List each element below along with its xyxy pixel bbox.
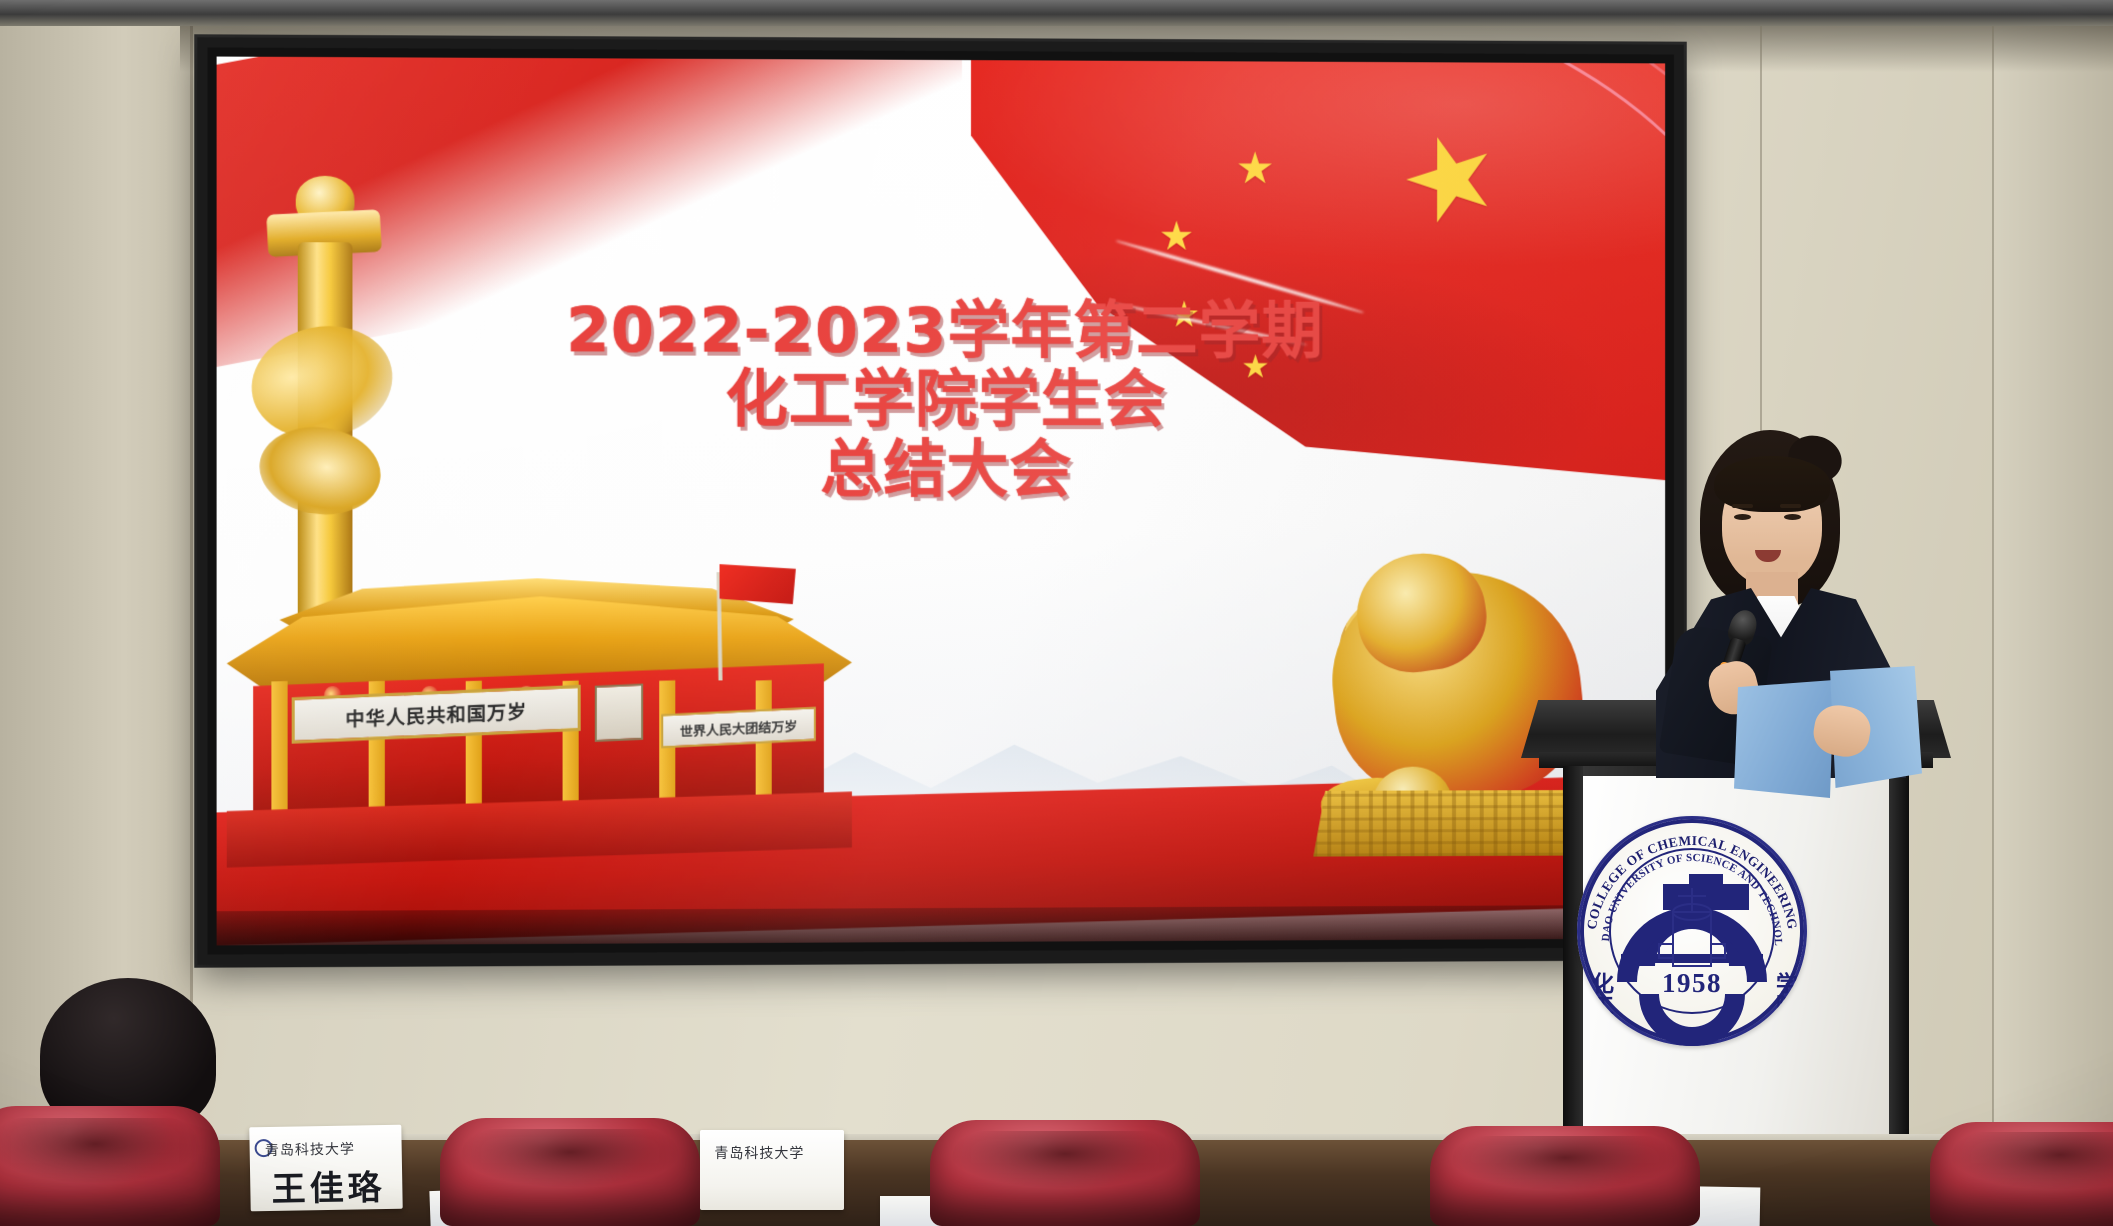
slide-red-base-shadow <box>217 905 1666 946</box>
gate-column <box>271 681 287 811</box>
seal-chinese-left: 化工 <box>1584 972 1616 1016</box>
name-card-person-name: 王佳珞 <box>271 1160 386 1211</box>
wall-panel-right <box>1993 0 2113 1226</box>
speaker-eyebrow <box>1732 504 1753 508</box>
front-row-chair <box>440 1118 700 1226</box>
speaker-eyebrow <box>1780 504 1801 508</box>
seal-founding-year: 1958 <box>1662 968 1722 998</box>
projection-screen: ★ ★ ★ ★ ★ <box>197 37 1684 964</box>
seal-chinese-right: 学院 <box>1768 972 1800 1016</box>
speaker-eye <box>1784 514 1801 520</box>
student-speaker <box>1638 430 1938 760</box>
front-row-chair <box>930 1120 1200 1226</box>
name-card: 青岛科技大学 王佳珞 <box>249 1125 402 1212</box>
college-seal-emblem: COLLEGE OF CHEMICAL ENGINEERING QINGDAO … <box>1577 816 1807 1046</box>
photo-scene: ★ ★ ★ ★ ★ <box>0 0 2113 1226</box>
speaker-fringe <box>1714 456 1830 512</box>
gate-waving-flag <box>720 564 796 604</box>
gate-column <box>756 680 772 809</box>
wall-seam <box>1992 26 1994 1226</box>
name-card-university: 青岛科技大学 <box>714 1143 804 1163</box>
speaker-eye <box>1734 514 1751 520</box>
ceiling-trim <box>0 0 2113 26</box>
gate-portrait <box>595 684 643 742</box>
presentation-slide: ★ ★ ★ ★ ★ <box>217 57 1666 946</box>
name-card-university: 青岛科技大学 <box>265 1139 355 1161</box>
front-row-chair <box>1430 1126 1700 1226</box>
huabiao-cloud-board <box>254 419 387 522</box>
gate-plaque-text: 中华人民共和国万岁 <box>345 697 527 732</box>
front-row-chair <box>0 1106 220 1226</box>
name-card: 青岛科技大学 <box>700 1130 844 1210</box>
tiananmen-gate: 中华人民共和国万岁 世界人民大团结万岁 <box>227 556 852 859</box>
front-row-chair <box>1930 1122 2113 1226</box>
